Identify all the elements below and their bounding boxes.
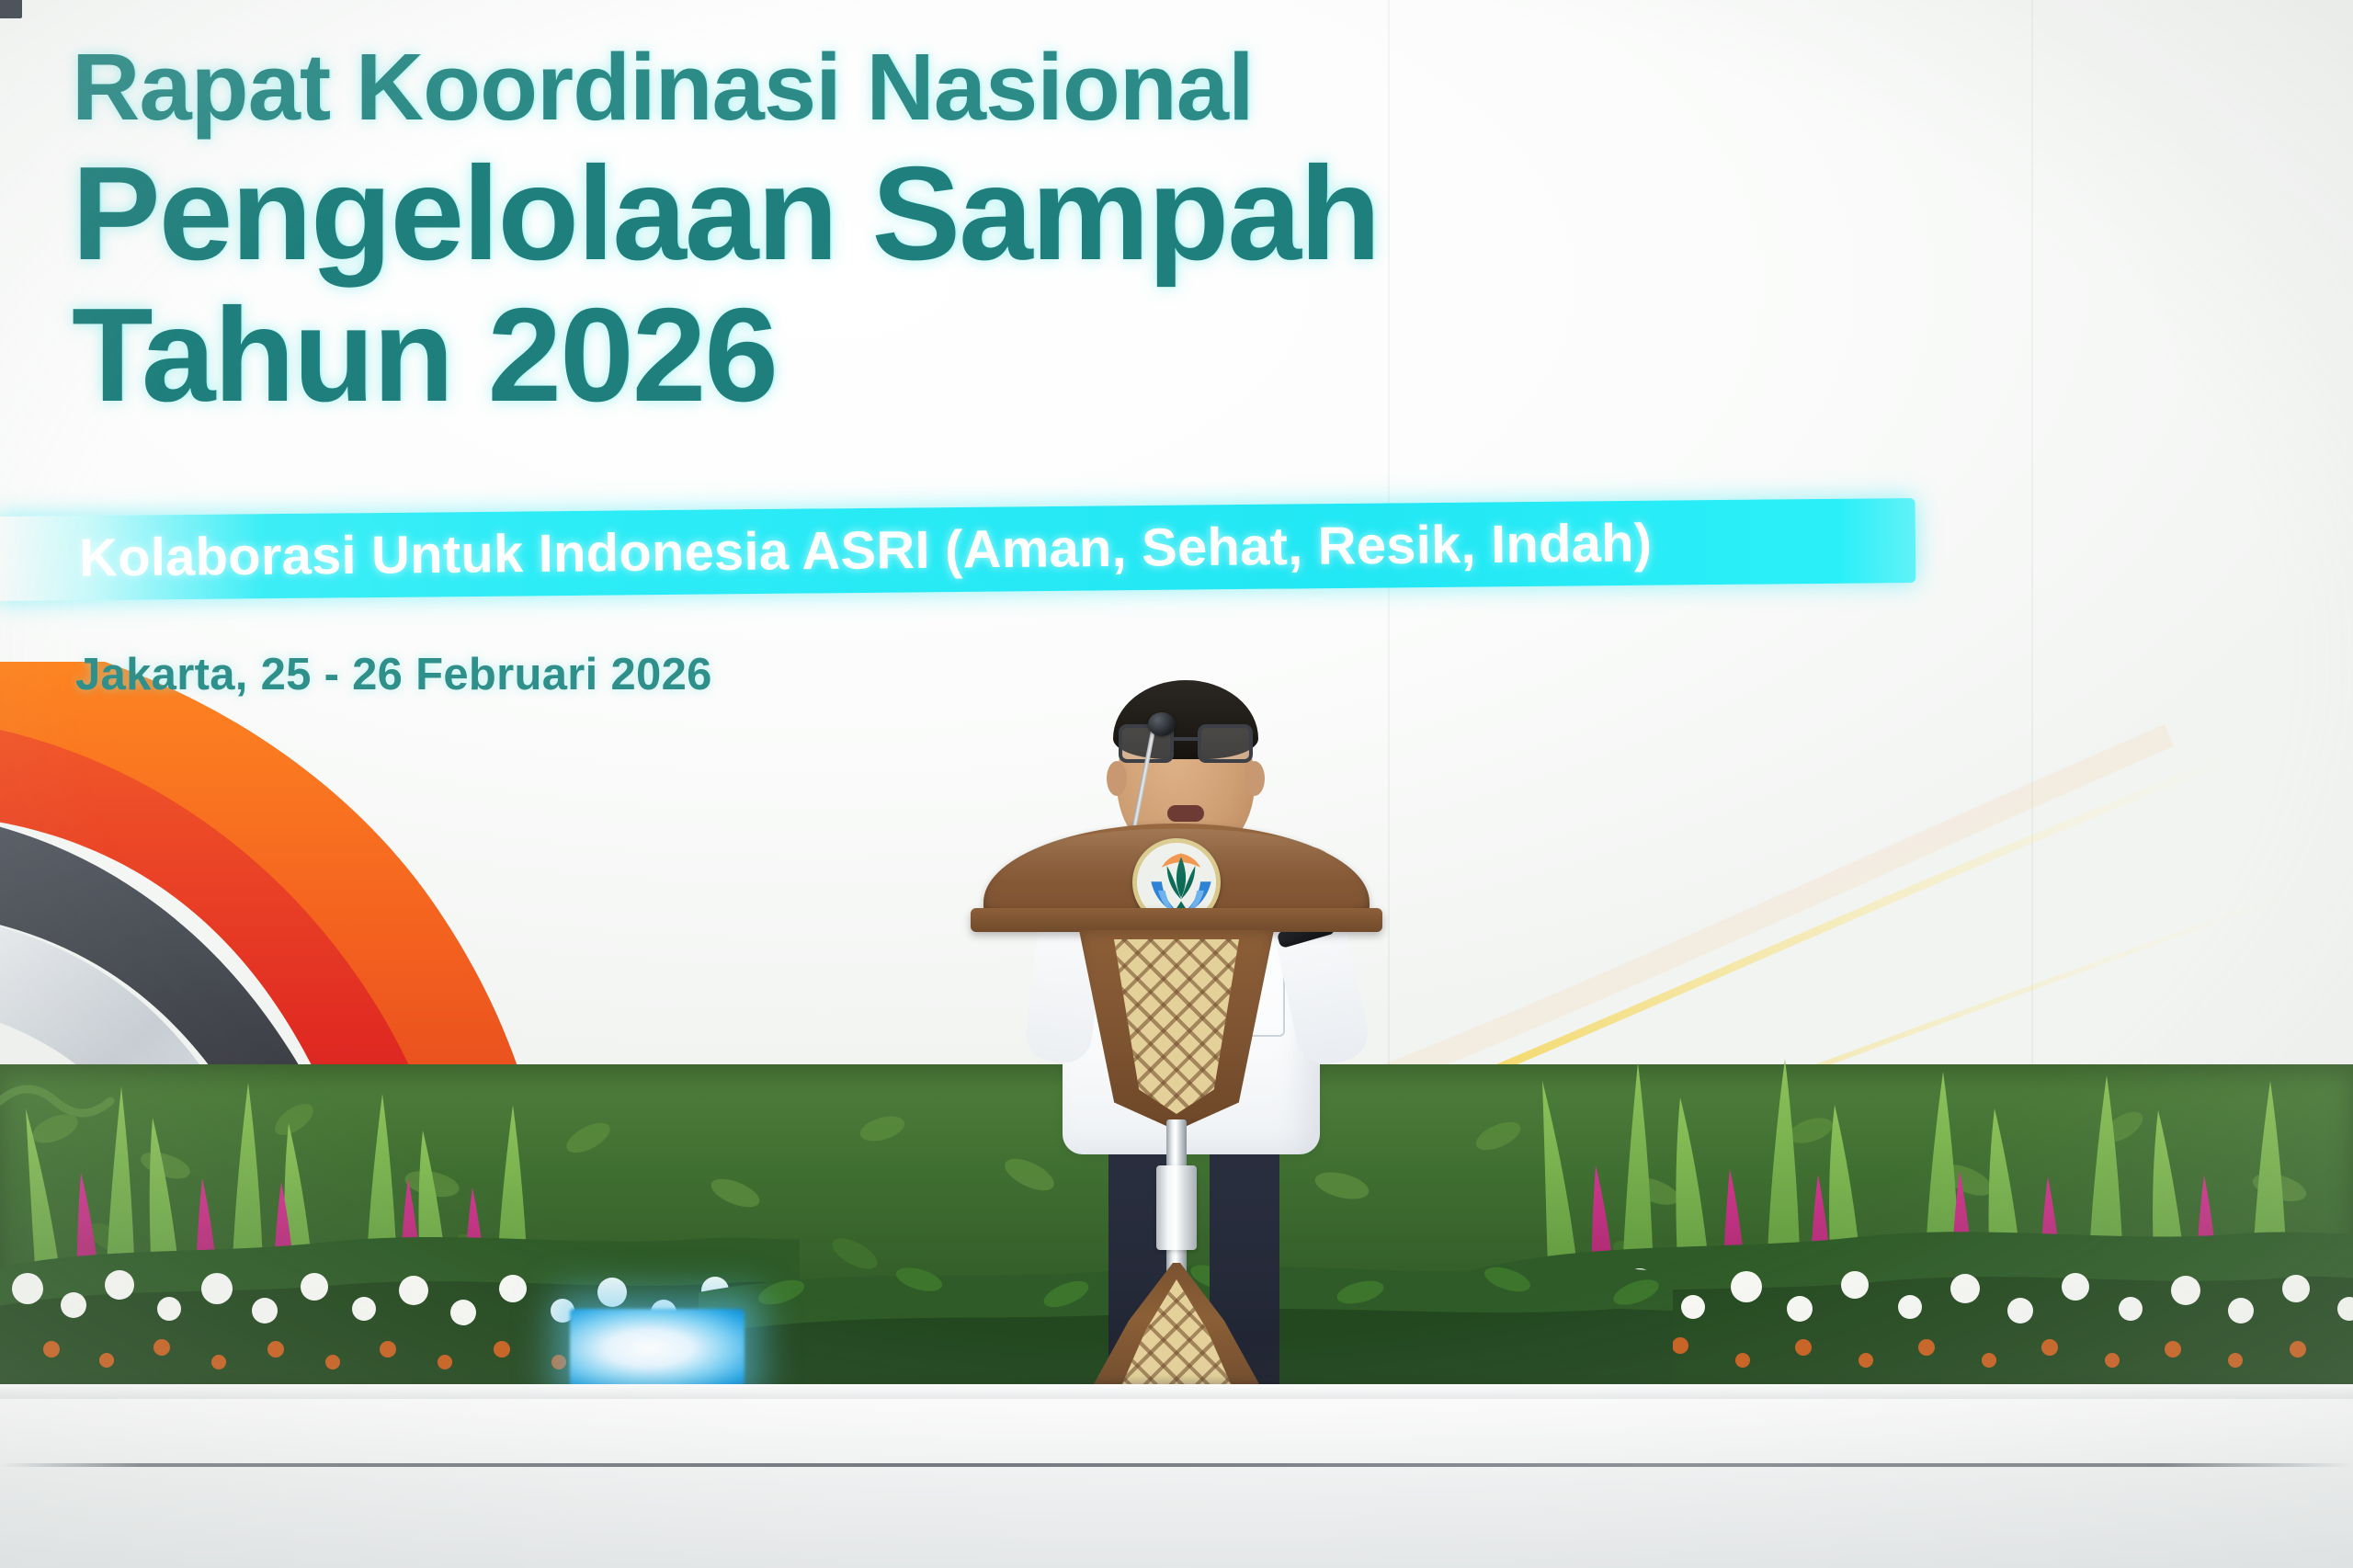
photo-vignette [0,0,2353,1568]
event-stage-photo: Rapat Koordinasi Nasional Pengelolaan Sa… [0,0,2353,1568]
